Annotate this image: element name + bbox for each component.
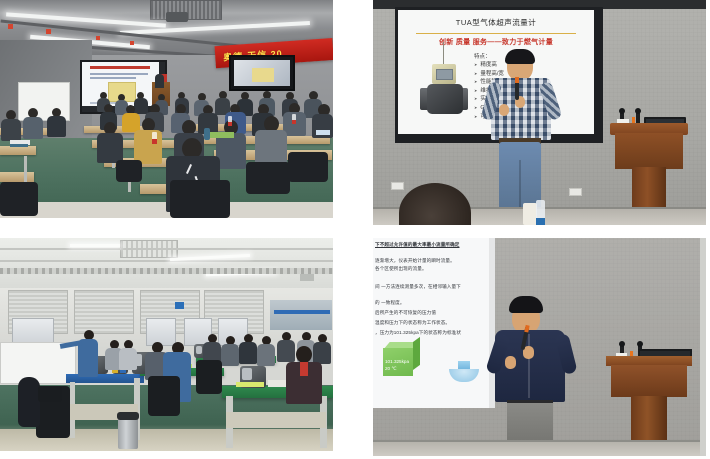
desk	[0, 146, 36, 155]
slide-line: 逐渐增大，仪表开始计量的瞬时流量。	[375, 258, 455, 264]
slide-line: 各个区使所出现的流量。	[375, 266, 427, 272]
sprinkler-icon	[130, 41, 134, 45]
desk-leg	[24, 156, 27, 182]
water-bottle	[536, 200, 545, 225]
photo-workshop-training	[0, 238, 333, 451]
water-bottle	[228, 116, 232, 126]
standard-condition-cube-graphic: 101.325kpa 20 ℃	[383, 342, 419, 376]
attendee-body	[134, 130, 162, 164]
office-chair	[288, 152, 328, 182]
wall-tv	[229, 55, 295, 91]
slide-line: ，压力为101.325kpa下的状态称为标准状	[375, 330, 461, 336]
attendee-body	[23, 117, 43, 139]
presenter	[493, 296, 571, 456]
attendee-body	[216, 133, 246, 169]
presenter	[485, 52, 557, 225]
far-workshop-area	[270, 300, 332, 330]
photo-classroom-wide: 奥德-天信 20	[0, 0, 333, 218]
attendee-head	[296, 346, 312, 363]
paper-stack	[268, 380, 286, 387]
projector-icon	[166, 12, 188, 22]
sprinkler-icon	[8, 24, 13, 29]
photo-presenter-flowmeter: TUA型气体超声流量计 创新 质量 服务——致力于燃气计量 特点： 精度高 量程…	[373, 0, 706, 225]
office-chair	[170, 180, 230, 218]
attendee-body	[313, 342, 331, 364]
slide-divider	[416, 33, 576, 34]
whiteboard	[18, 82, 70, 121]
notebook	[10, 144, 28, 147]
presenter-hand	[499, 104, 509, 116]
sprinkler-icon	[46, 29, 51, 34]
presenter-silhouette	[155, 74, 164, 88]
slide-line: 后所产生的不可恢复的压力值	[375, 310, 436, 316]
attendee-body	[119, 348, 137, 370]
slide-title: TUA型气体超声流量计	[398, 17, 594, 28]
presenter-hand	[505, 356, 516, 369]
bag	[38, 386, 62, 402]
photo-presenter-text-slide: 下不超过允许值的最大率最小流量所确定 逐渐增大，仪表开始计量的瞬时流量。 各个区…	[373, 238, 706, 456]
attendee-body	[97, 133, 123, 163]
office-chair	[116, 160, 142, 182]
chair	[148, 376, 180, 416]
water-bottle	[292, 114, 296, 124]
globe-graphic	[449, 360, 479, 382]
slide-line: 间 一方法连续测量多次，在相邻输入量下	[375, 284, 461, 290]
photo-right-edge	[700, 238, 706, 456]
floor	[373, 442, 706, 456]
projector-icon	[300, 274, 314, 281]
chair	[196, 360, 222, 394]
window-blind	[74, 290, 134, 334]
bench-shelf	[226, 412, 326, 428]
slide: 下不超过允许值的最大率最小流量所确定 逐渐增大，仪表开始计量的瞬时流量。 各个区…	[373, 238, 495, 408]
office-chair	[246, 162, 290, 194]
attendee-body	[47, 116, 66, 137]
whiteboard	[0, 342, 76, 384]
handheld-microphone-icon	[515, 78, 519, 100]
slide-line: 下不超过允许值的最大率最小流量所确定	[375, 242, 460, 248]
attendee-body	[1, 119, 21, 141]
attendee-body	[134, 98, 148, 114]
presenter-hair	[509, 296, 543, 313]
cube-label: 20 ℃	[385, 365, 409, 372]
tool-tray	[236, 382, 264, 387]
notebook	[210, 132, 234, 138]
office-chair	[0, 182, 38, 216]
wall-sign	[175, 302, 184, 309]
coat-on-chair	[18, 377, 40, 427]
attendee-body	[221, 344, 239, 366]
attendee-collar	[300, 362, 308, 376]
attendee-body	[239, 342, 257, 364]
presenter-hair	[505, 49, 535, 64]
slide-line: 的 一致程度。	[375, 300, 405, 306]
tool	[120, 370, 126, 373]
ceiling-light	[70, 244, 120, 247]
attendee-body	[257, 344, 275, 366]
flowmeter-graphic	[420, 56, 468, 118]
ceiling-duct	[0, 268, 333, 274]
desk	[0, 172, 34, 182]
far-bench	[274, 310, 330, 314]
wall-outlet	[391, 182, 404, 190]
waste-bin	[118, 417, 138, 449]
window	[146, 318, 176, 346]
slide-subtitle: 创新 质量 服务——致力于燃气计量	[398, 37, 594, 47]
slide-line: 温度和压力下的状态称为工作状态。	[375, 320, 450, 326]
notebook	[316, 130, 330, 135]
cube-label: 101.325kpa	[385, 358, 409, 365]
sprinkler-icon	[96, 36, 100, 40]
ceiling-rib	[0, 260, 333, 262]
water-jug	[523, 203, 537, 225]
water-bottle	[152, 132, 157, 144]
attendee-body	[277, 340, 295, 362]
wall-outlet	[569, 188, 582, 196]
ceiling-rib	[0, 248, 333, 250]
